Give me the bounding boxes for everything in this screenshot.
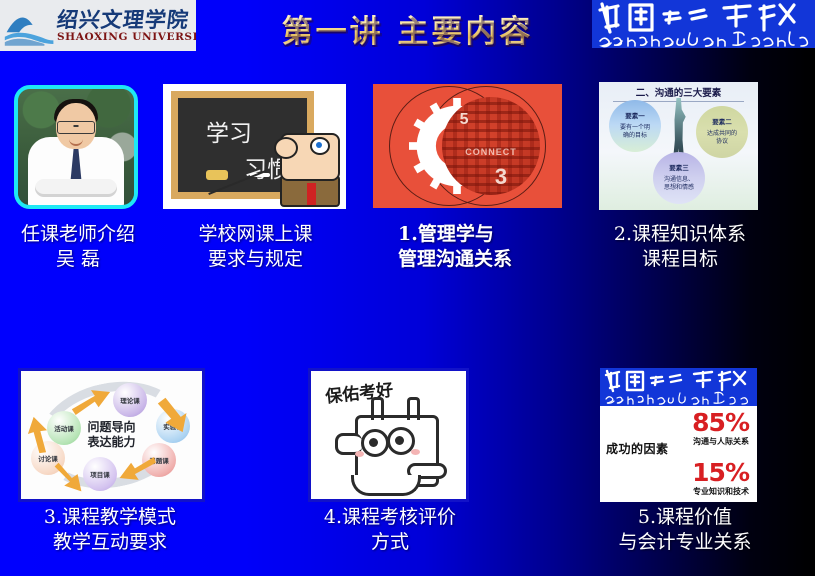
card-caption-5: 3.课程教学模式 教学互动要求 [10,505,210,555]
slide-root: 绍兴文理学院 SHAOXING UNIVERSITY 第一讲 主要内容 第一讲 … [0,0,815,576]
glasses-icon [57,121,95,134]
card-caption-1: 任课老师介绍 吴 磊 [0,222,158,272]
teacher-nose [274,137,298,159]
shaoxing-university-logo: 绍兴文理学院 SHAOXING UNIVERSITY [0,0,196,51]
sketch-eye-right [387,427,415,455]
success-value-85: 85% [692,408,749,437]
teacher-eye [310,137,330,155]
success-label: 成功的因素 [606,440,669,457]
sketch-eye-left [361,429,389,457]
connect-collage: 5 CONNECT 3 [442,97,540,195]
element-bubble-1: 要素一 要有一个明 确的目标 [609,100,661,152]
teaching-cycle-diagram: 问题导向 表达能力 理论课 实验课 习题课 项目课 讨论课 活动课 [18,368,205,502]
sketch-blush-left [355,451,364,457]
element-bubble-3-text: 沟通信息、 思想和情感 [664,176,694,192]
blackboard-word-1: 学习 [206,114,252,148]
university-name-en: SHAOXING UNIVERSITY [57,32,196,43]
element-bubble-2: 要素二 达成共同的 协议 [696,106,748,158]
red-gear-connect-graphic: 5 CONNECT 3 [373,84,562,208]
success-desc-15: 专业知识和技术 [693,486,749,497]
card-caption-2: 学校网课上课 要求与规定 [168,222,343,272]
cartoon-teacher [270,129,342,207]
collage-word: CONNECT [465,147,517,157]
card-caption-3: 1.管理学与 管理沟通关系 [380,222,588,272]
collage-number-3: 3 [495,164,507,190]
card-caption-4: 2.课程知识体系 课程目标 [585,222,775,272]
calligraphy-icon [592,0,815,48]
element-bubble-2-head: 要素二 [712,119,732,127]
element-bubble-1-head: 要素一 [625,113,645,121]
university-name-cn: 绍兴文理学院 [56,9,196,30]
eraser-icon [206,170,228,180]
sketch-blush-right [411,449,420,455]
blackboard-cartoon: 学习 习惯 [163,84,346,209]
element-bubble-3-head: 要素三 [669,165,689,173]
university-emblem-icon [3,5,57,47]
cycle-arrows-icon [21,371,202,499]
portrait-arms [35,179,117,197]
three-elements-diagram: 二、沟通的三大要素 要素一 要有一个明 确的目标 要素二 达成共同的 协议 要素… [599,82,758,210]
element-bubble-1-text: 要有一个明 确的目标 [620,124,650,140]
sketch-leg [351,475,421,496]
card-caption-7: 5.课程价值 与会计专业关系 [585,505,785,555]
card-caption-6: 4.课程考核评价 方式 [300,505,480,555]
success-card-header [600,368,757,406]
diagram-title: 二、沟通的三大要素 [599,85,758,99]
collage-number-5: 5 [460,111,469,129]
reaching-out-from-heart-logo [592,0,815,48]
teacher-tie [307,183,316,205]
success-value-15: 15% [692,458,749,487]
success-desc-85: 沟通与人际关系 [693,436,749,447]
element-bubble-3: 要素三 沟通信息、 思想和情感 [653,152,705,204]
calligraphy-icon-small [600,368,757,406]
success-factors-card: 成功的因素 85% 沟通与人际关系 15% 专业知识和技术 [600,368,757,502]
element-bubble-2-text: 达成共同的 协议 [707,130,737,146]
bless-exam-sketch: 保佑考好 [308,368,469,502]
teacher-portrait-photo [14,85,138,209]
